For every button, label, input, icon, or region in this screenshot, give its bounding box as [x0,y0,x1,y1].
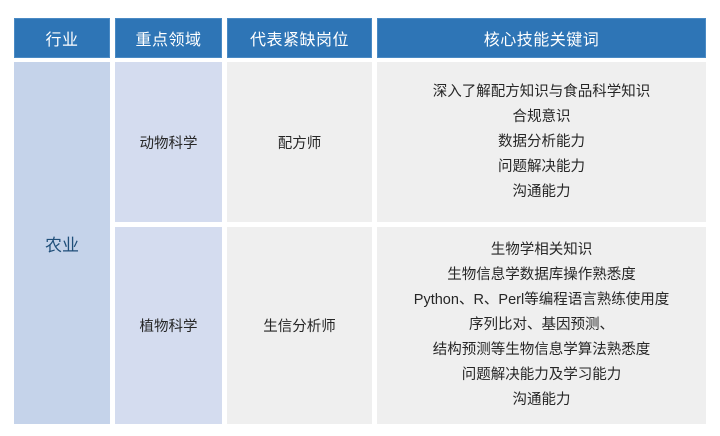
column-header-field-label: 重点领域 [135,26,201,50]
table-row: 深入了解配方知识与食品科学知识合规意识数据分析能力问题解决能力沟通能力 [377,62,706,222]
column-header-role-label: 代表紧缺岗位 [250,26,349,50]
skill-line: 结构预测等生物信息学算法熟悉度 [383,338,700,363]
table-row: 生物学相关知识生物信息学数据库操作熟悉度Python、R、Perl等编程语言熟练… [377,227,706,424]
table-row: 植物科学 [115,227,222,424]
skill-line: 问题解决能力 [383,155,700,180]
column-header-industry-label: 行业 [45,26,78,50]
field-label: 动物科学 [140,132,198,153]
column-header-skills: 核心技能关键词 [377,18,706,58]
skill-line: 序列比对、基因预测、 [383,313,700,338]
skill-line: Python、R、Perl等编程语言熟练使用度 [383,288,700,313]
table-row: 动物科学 [115,62,222,222]
industry-cell-label: 农业 [45,231,79,256]
skill-line: 数据分析能力 [383,130,700,155]
column-header-industry: 行业 [14,18,110,58]
skills-table: 行业 重点领域 代表紧缺岗位 核心技能关键词 农业 动物科学 配方师 深入了解配… [14,18,706,424]
skill-line: 深入了解配方知识与食品科学知识 [383,80,700,105]
skill-line: 合规意识 [383,105,700,130]
skill-line: 问题解决能力及学习能力 [383,363,700,388]
column-header-role: 代表紧缺岗位 [227,18,372,58]
table-header-row: 行业 重点领域 代表紧缺岗位 核心技能关键词 [14,18,706,58]
skills-list: 深入了解配方知识与食品科学知识合规意识数据分析能力问题解决能力沟通能力 [383,80,700,205]
skill-line: 生物信息学数据库操作熟悉度 [383,263,700,288]
skill-line: 生物学相关知识 [383,238,700,263]
skill-line: 沟通能力 [383,388,700,413]
field-label: 植物科学 [140,315,198,336]
role-label: 配方师 [278,132,322,153]
column-header-field: 重点领域 [115,18,222,58]
skills-list: 生物学相关知识生物信息学数据库操作熟悉度Python、R、Perl等编程语言熟练… [383,238,700,413]
skill-line: 沟通能力 [383,180,700,205]
column-header-skills-label: 核心技能关键词 [484,26,600,50]
industry-cell: 农业 [14,62,110,424]
role-label: 生信分析师 [263,315,336,336]
table-row: 生信分析师 [227,227,372,424]
table-row: 配方师 [227,62,372,222]
